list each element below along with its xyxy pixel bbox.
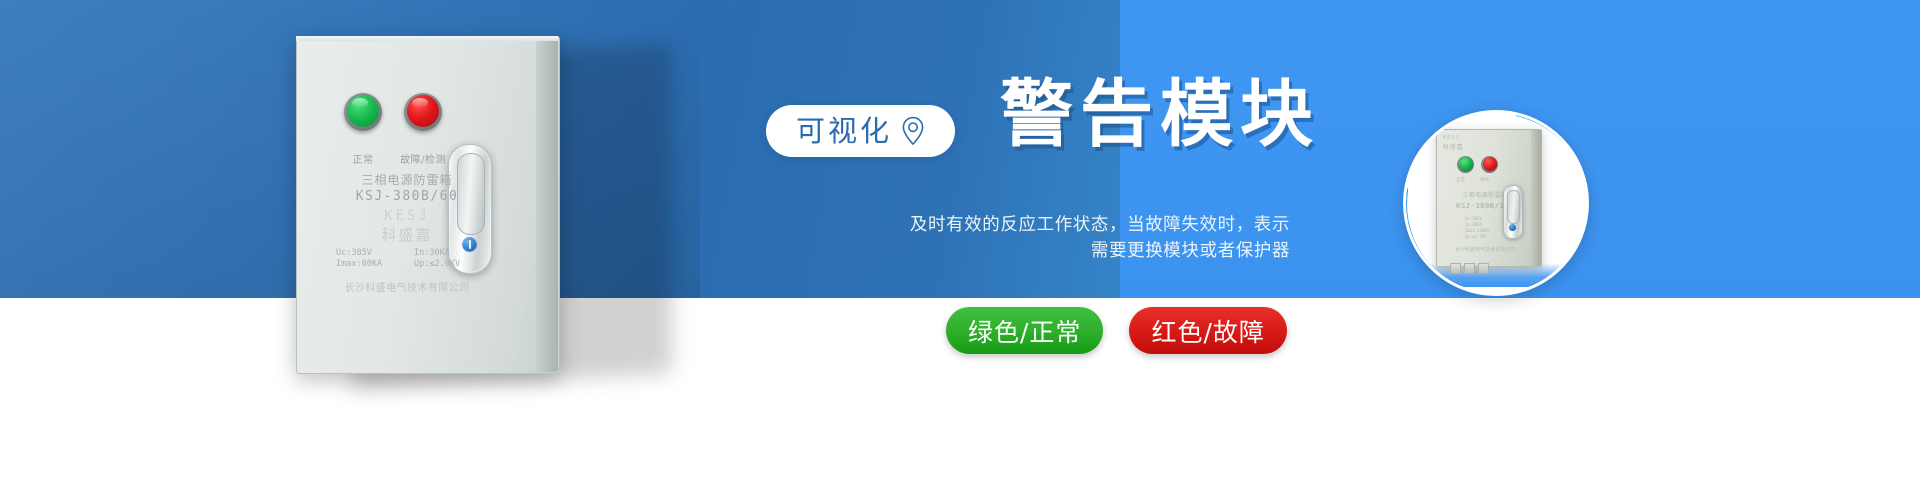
- inset-breaker-toggle: [1507, 190, 1520, 224]
- product-photo-main: 正常 故障/检测 三相电源防雷箱 KSJ-380B/60 KESJ 科盛嘉 Uc…: [296, 36, 558, 372]
- inset-lamp-cap: [1459, 157, 1473, 171]
- lamp-gloss: [352, 98, 368, 108]
- lamp-gloss: [412, 98, 428, 108]
- product-model-label: KSJ-380B/60: [314, 189, 500, 204]
- subtitle-line-1: 及时有效的反应工作状态，当故障失效时，表示: [760, 212, 1290, 238]
- visual-badge: 可视化: [766, 105, 955, 157]
- inset-spec-up: Up:≤2.5KV: [1465, 234, 1489, 240]
- indicator-lamp-fault: [404, 93, 442, 131]
- location-pin-icon: [901, 116, 925, 146]
- banner-subtitle: 及时有效的反应工作状态，当故障失效时，表示 需要更换模块或者保护器: [760, 212, 1290, 265]
- inset-breaker-indicator-dot: [1509, 224, 1516, 231]
- brand-logo-latin: KESJ: [314, 208, 500, 224]
- inset-indicator-lamp-normal: [1457, 156, 1474, 173]
- inset-manufacturer-label: 长沙科盛电气技术有限公司: [1441, 246, 1529, 253]
- cable-gland: [1478, 263, 1489, 274]
- cable-gland: [1464, 263, 1475, 274]
- page-title: 警告模块: [1000, 78, 1320, 151]
- enclosure-front-face: 正常 故障/检测 三相电源防雷箱 KSJ-380B/60 KESJ 科盛嘉 Uc…: [296, 36, 536, 372]
- inset-lamp-cap: [1483, 157, 1497, 171]
- spec-imax: Imax:60KA: [336, 259, 408, 269]
- manufacturer-label: 长沙科盛电气技术有限公司: [306, 279, 508, 294]
- brand-logo-chinese: 科盛嘉: [314, 224, 500, 245]
- inset-circuit-breaker: [1503, 185, 1523, 239]
- inset-lamp-label-normal: 正常: [1456, 177, 1465, 183]
- lamp-label-normal: 正常: [332, 151, 394, 166]
- status-badge-fault: 红色/故障: [1129, 307, 1286, 354]
- inset-brand-chinese: 科盛嘉: [1443, 142, 1463, 151]
- status-tag-group: 绿色/正常 红色/故障: [946, 307, 1287, 354]
- status-badge-normal: 绿色/正常: [946, 307, 1103, 354]
- product-name-label: 三相电源防雷箱: [314, 171, 500, 188]
- enclosure-side-panel: [536, 36, 558, 372]
- inset-enclosure-body: KESJ 科盛嘉 正常 故障 三相电源防雷箱 KSJ-380B/120 Uc:3…: [1436, 129, 1542, 267]
- indicator-lamp-normal: [344, 93, 382, 131]
- spec-up: Up:≤2.0KV: [414, 259, 486, 269]
- inset-spec-list: Uc:385V In:60KA Imax:120KA Up:≤2.5KV: [1465, 216, 1489, 240]
- promo-banner: 正常 故障/检测 三相电源防雷箱 KSJ-380B/60 KESJ 科盛嘉 Uc…: [0, 0, 1920, 500]
- product-spec-grid: Uc:385V In:30KA Imax:60KA Up:≤2.0KV: [336, 248, 486, 269]
- spec-uc: Uc:385V: [336, 248, 408, 258]
- inset-brand-latin: KESJ: [1443, 135, 1459, 141]
- subtitle-line-2: 需要更换模块或者保护器: [760, 238, 1290, 264]
- visual-badge-label: 可视化: [796, 117, 892, 146]
- product-photo-inset: KESJ 科盛嘉 正常 故障 三相电源防雷箱 KSJ-380B/120 Uc:3…: [1403, 110, 1589, 296]
- inset-lamp-label-fault: 故障: [1480, 177, 1489, 183]
- inset-indicator-lamp-fault: [1481, 156, 1498, 173]
- spec-in: In:30KA: [414, 248, 486, 258]
